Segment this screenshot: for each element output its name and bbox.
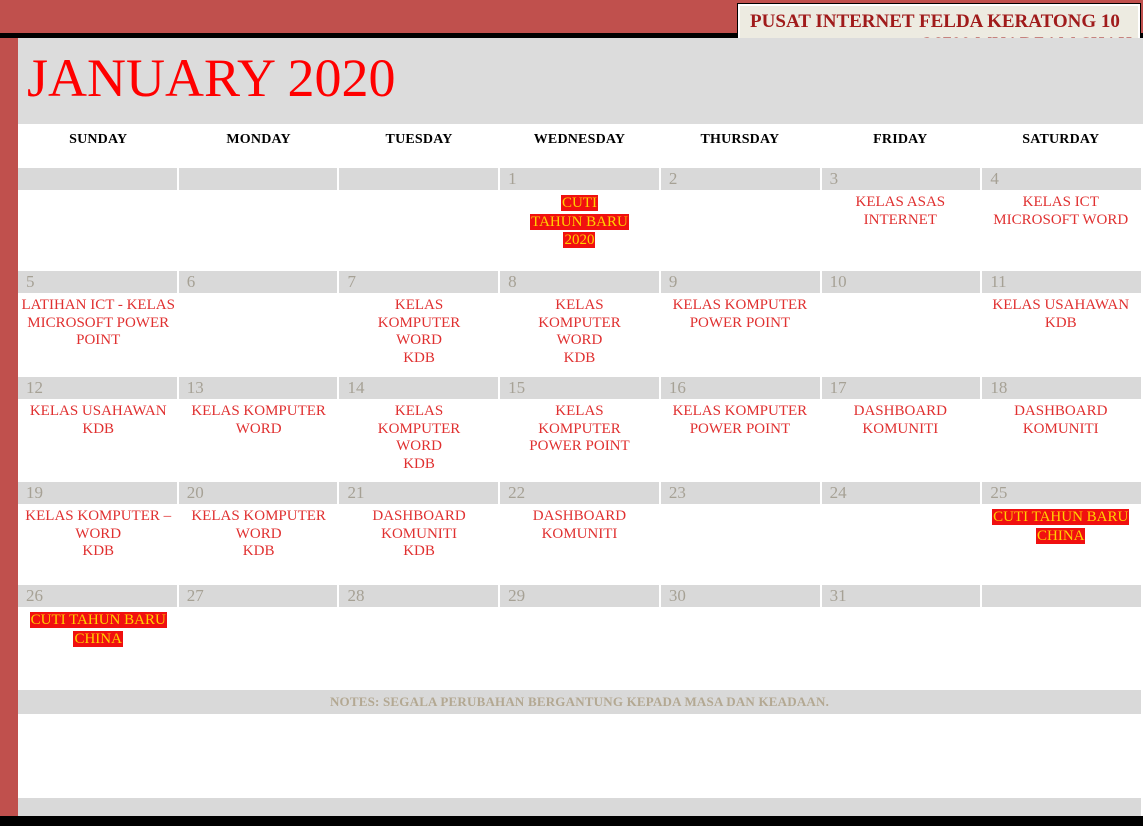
day-cell-16[interactable]: KELAS KOMPUTERPOWER POINT (660, 399, 820, 482)
day-cell-blank (178, 190, 338, 271)
event-line: LATIHAN ICT - KELAS (21, 297, 175, 315)
day-cell-6[interactable] (178, 293, 338, 377)
day-cell-25[interactable]: CUTI TAHUN BARU CHINA (981, 504, 1141, 585)
footer-white-area (18, 714, 1141, 798)
day-number-row: 12131415161718 (18, 377, 1141, 399)
calendar-grid: SUNDAYMONDAYTUESDAYWEDNESDAYTHURSDAYFRID… (18, 124, 1141, 688)
event-line: KOMUNITI (823, 421, 977, 439)
event-line: KELAS KOMPUTER – (21, 508, 175, 526)
event-line: KOMPUTER (502, 315, 656, 333)
event-line: KELAS USAHAWAN (21, 403, 175, 421)
event-line: KDB (502, 350, 656, 368)
day-number-9[interactable]: 9 (661, 271, 822, 293)
day-number-4[interactable]: 4 (982, 168, 1141, 190)
day-number-21[interactable]: 21 (339, 482, 500, 504)
event-line: WORD (181, 526, 335, 544)
day-cell-3[interactable]: KELAS ASAS INTERNET (820, 190, 980, 271)
day-number-16[interactable]: 16 (661, 377, 822, 399)
event-line: TAHUN BARU (530, 214, 629, 230)
event-highlight[interactable]: CUTITAHUN BARU2020 (502, 194, 656, 250)
event-text[interactable]: KELAS USAHAWANKDB (984, 297, 1138, 332)
event-line: CHINA (73, 631, 123, 647)
event-line: KOMPUTER (342, 421, 496, 439)
notes-text: NOTES: SEGALA PERUBAHAN BERGANTUNG KEPAD… (330, 694, 829, 709)
weekday-header-monday: MONDAY (178, 124, 338, 168)
day-cell-26[interactable]: CUTI TAHUN BARUCHINA (18, 607, 178, 688)
event-line: KOMUNITI (502, 526, 656, 544)
day-content-row: KELAS USAHAWANKDBKELAS KOMPUTERWORDKELAS… (18, 399, 1141, 482)
day-number-22[interactable]: 22 (500, 482, 661, 504)
day-cell-31[interactable] (820, 607, 980, 688)
event-line: MICROSOFT WORD (984, 212, 1138, 230)
day-number-20[interactable]: 20 (179, 482, 340, 504)
day-cell-11[interactable]: KELAS USAHAWANKDB (981, 293, 1141, 377)
event-line: KELAS (502, 403, 656, 421)
event-line: DASHBOARD (823, 403, 977, 421)
event-text[interactable]: KELAS KOMPUTER –WORDKDB (21, 508, 175, 561)
event-line: CUTI TAHUN BARU CHINA (992, 509, 1129, 544)
day-cell-22[interactable]: DASHBOARDKOMUNITI (499, 504, 659, 585)
day-number-3[interactable]: 3 (822, 168, 983, 190)
day-number-7[interactable]: 7 (339, 271, 500, 293)
event-line: WORD (342, 332, 496, 350)
weekday-header-row: SUNDAYMONDAYTUESDAYWEDNESDAYTHURSDAYFRID… (18, 124, 1141, 168)
page-title: JANUARY 2020 (27, 48, 396, 108)
event-line: DASHBOARD KOMUNITI (984, 403, 1138, 438)
day-cell-24[interactable] (820, 504, 980, 585)
weekday-header-friday: FRIDAY (820, 124, 980, 168)
day-cell-9[interactable]: KELAS KOMPUTERPOWER POINT (660, 293, 820, 377)
event-text[interactable]: DASHBOARD KOMUNITI (984, 403, 1138, 438)
event-text[interactable]: LATIHAN ICT - KELASMICROSOFT POWERPOINT (21, 297, 175, 350)
event-text[interactable]: DASHBOARDKOMUNITI (502, 508, 656, 543)
day-cell-21[interactable]: DASHBOARDKOMUNITIKDB (339, 504, 499, 585)
event-line: KDB (342, 543, 496, 561)
day-cell-19[interactable]: KELAS KOMPUTER –WORDKDB (18, 504, 178, 585)
event-line: KELAS ASAS INTERNET (823, 194, 977, 229)
day-number-12[interactable]: 12 (18, 377, 179, 399)
event-line: POWER POINT (663, 315, 817, 333)
event-line: KOMPUTER (342, 315, 496, 333)
event-highlight[interactable]: CUTI TAHUN BARU CHINA (984, 508, 1138, 545)
calendar-week-row: 12131415161718KELAS USAHAWANKDBKELAS KOM… (18, 377, 1141, 482)
day-content-row: KELAS KOMPUTER –WORDKDBKELAS KOMPUTERWOR… (18, 504, 1141, 585)
day-content-row: LATIHAN ICT - KELASMICROSOFT POWERPOINTK… (18, 293, 1141, 377)
day-number-row: 567891011 (18, 271, 1141, 293)
event-text[interactable]: KELASKOMPUTERWORDKDB (342, 403, 496, 473)
event-line: DASHBOARD (502, 508, 656, 526)
day-number-2[interactable]: 2 (661, 168, 822, 190)
day-number-11[interactable]: 11 (982, 271, 1141, 293)
day-cell-20[interactable]: KELAS KOMPUTERWORDKDB (178, 504, 338, 585)
day-number-1[interactable]: 1 (500, 168, 661, 190)
event-line: DASHBOARD (342, 508, 496, 526)
event-text[interactable]: KELAS KOMPUTERWORD (181, 403, 335, 438)
event-line: KELAS KOMPUTER (663, 297, 817, 315)
day-number-6[interactable]: 6 (179, 271, 340, 293)
event-line: KDB (984, 315, 1138, 333)
day-cell-5[interactable]: LATIHAN ICT - KELASMICROSOFT POWERPOINT (18, 293, 178, 377)
day-number-19[interactable]: 19 (18, 482, 179, 504)
event-line: WORD (502, 332, 656, 350)
day-cell-blank (339, 190, 499, 271)
day-number-13[interactable]: 13 (179, 377, 340, 399)
day-cell-12[interactable]: KELAS USAHAWANKDB (18, 399, 178, 482)
day-number-25[interactable]: 25 (982, 482, 1141, 504)
day-content-row: CUTITAHUN BARU2020KELAS ASAS INTERNETKEL… (18, 190, 1141, 271)
event-text[interactable]: KELAS USAHAWANKDB (21, 403, 175, 438)
day-number-24[interactable]: 24 (822, 482, 983, 504)
event-text[interactable]: KELASKOMPUTERPOWER POINT (502, 403, 656, 456)
calendar-week-row: 567891011LATIHAN ICT - KELASMICROSOFT PO… (18, 271, 1141, 377)
event-line: KELAS KOMPUTER (181, 403, 335, 421)
calendar-week-row: 262728293031CUTI TAHUN BARUCHINA (18, 585, 1141, 688)
day-cell-30[interactable] (660, 607, 820, 688)
day-number-27[interactable]: 27 (179, 585, 340, 607)
event-line: KELAS (502, 297, 656, 315)
event-line: WORD (21, 526, 175, 544)
day-number-26[interactable]: 26 (18, 585, 179, 607)
day-number-10[interactable]: 10 (822, 271, 983, 293)
calendar-weeks: 1234CUTITAHUN BARU2020KELAS ASAS INTERNE… (18, 168, 1141, 688)
weekday-header-tuesday: TUESDAY (339, 124, 499, 168)
event-line: KDB (342, 350, 496, 368)
event-line: KELAS USAHAWAN (984, 297, 1138, 315)
bottom-black-divider (0, 816, 1143, 826)
day-number-row: 1234 (18, 168, 1141, 190)
event-line: KDB (181, 543, 335, 561)
day-number-blank (179, 168, 340, 190)
event-line: KOMUNITI (342, 526, 496, 544)
day-number-15[interactable]: 15 (500, 377, 661, 399)
event-line: POWER POINT (502, 438, 656, 456)
event-line: POWER POINT (663, 421, 817, 439)
event-line: KDB (21, 421, 175, 439)
event-line: KELAS KOMPUTER (663, 403, 817, 421)
event-text[interactable]: KELASKOMPUTERWORDKDB (502, 297, 656, 367)
event-line: KDB (342, 456, 496, 474)
day-number-23[interactable]: 23 (661, 482, 822, 504)
day-number-14[interactable]: 14 (339, 377, 500, 399)
day-cell-23[interactable] (660, 504, 820, 585)
event-text[interactable]: KELAS ASAS INTERNET (823, 194, 977, 229)
event-line: WORD (181, 421, 335, 439)
day-number-29[interactable]: 29 (500, 585, 661, 607)
event-line: MICROSOFT POWER (21, 315, 175, 333)
event-line: KELAS ICT (984, 194, 1138, 212)
day-number-5[interactable]: 5 (18, 271, 179, 293)
event-line: CUTI TAHUN BARU (30, 612, 167, 628)
event-text[interactable]: KELAS KOMPUTERPOWER POINT (663, 403, 817, 438)
day-number-blank (18, 168, 179, 190)
day-cell-15[interactable]: KELASKOMPUTERPOWER POINT (499, 399, 659, 482)
event-line: KELAS KOMPUTER (181, 508, 335, 526)
day-number-blank (982, 585, 1141, 607)
day-cell-7[interactable]: KELASKOMPUTERWORDKDB (339, 293, 499, 377)
event-line: KOMPUTER (502, 421, 656, 439)
notes-band: NOTES: SEGALA PERUBAHAN BERGANTUNG KEPAD… (18, 690, 1141, 714)
day-number-31[interactable]: 31 (822, 585, 983, 607)
event-line: CUTI (561, 195, 598, 211)
event-line: KELAS (342, 403, 496, 421)
day-cell-14[interactable]: KELASKOMPUTERWORDKDB (339, 399, 499, 482)
day-content-row: CUTI TAHUN BARUCHINA (18, 607, 1141, 688)
event-line: 2020 (563, 232, 595, 248)
day-cell-13[interactable]: KELAS KOMPUTERWORD (178, 399, 338, 482)
day-cell-blank (981, 607, 1141, 688)
day-number-28[interactable]: 28 (339, 585, 500, 607)
day-cell-2[interactable] (660, 190, 820, 271)
day-number-17[interactable]: 17 (822, 377, 983, 399)
organization-title: PUSAT INTERNET FELDA KERATONG 10 (744, 10, 1132, 33)
day-number-row: 262728293031 (18, 585, 1141, 607)
day-cell-29[interactable] (499, 607, 659, 688)
event-text[interactable]: DASHBOARDKOMUNITIKDB (342, 508, 496, 561)
calendar-week-row: 19202122232425KELAS KOMPUTER –WORDKDBKEL… (18, 482, 1141, 585)
event-text[interactable]: KELAS ICTMICROSOFT WORD (984, 194, 1138, 229)
weekday-header-thursday: THURSDAY (660, 124, 820, 168)
day-cell-8[interactable]: KELASKOMPUTERWORDKDB (499, 293, 659, 377)
day-number-row: 19202122232425 (18, 482, 1141, 504)
day-cell-10[interactable] (820, 293, 980, 377)
day-cell-28[interactable] (339, 607, 499, 688)
event-text[interactable]: KELASKOMPUTERWORDKDB (342, 297, 496, 367)
day-number-30[interactable]: 30 (661, 585, 822, 607)
day-cell-18[interactable]: DASHBOARD KOMUNITI (981, 399, 1141, 482)
day-cell-blank (18, 190, 178, 271)
day-number-blank (339, 168, 500, 190)
event-text[interactable]: KELAS KOMPUTERWORDKDB (181, 508, 335, 561)
event-text[interactable]: DASHBOARDKOMUNITI (823, 403, 977, 438)
weekday-header-sunday: SUNDAY (18, 124, 178, 168)
left-red-rail (0, 38, 18, 816)
event-line: POINT (21, 332, 175, 350)
calendar-week-row: 1234CUTITAHUN BARU2020KELAS ASAS INTERNE… (18, 168, 1141, 271)
event-text[interactable]: KELAS KOMPUTERPOWER POINT (663, 297, 817, 332)
day-cell-4[interactable]: KELAS ICTMICROSOFT WORD (981, 190, 1141, 271)
footer-grey-band (18, 798, 1141, 816)
event-line: KELAS (342, 297, 496, 315)
day-number-18[interactable]: 18 (982, 377, 1141, 399)
weekday-header-saturday: SATURDAY (981, 124, 1141, 168)
day-cell-17[interactable]: DASHBOARDKOMUNITI (820, 399, 980, 482)
event-line: WORD (342, 438, 496, 456)
day-cell-1[interactable]: CUTITAHUN BARU2020 (499, 190, 659, 271)
day-number-8[interactable]: 8 (500, 271, 661, 293)
event-highlight[interactable]: CUTI TAHUN BARUCHINA (21, 611, 175, 648)
event-line: KDB (21, 543, 175, 561)
day-cell-27[interactable] (178, 607, 338, 688)
weekday-header-wednesday: WEDNESDAY (499, 124, 659, 168)
